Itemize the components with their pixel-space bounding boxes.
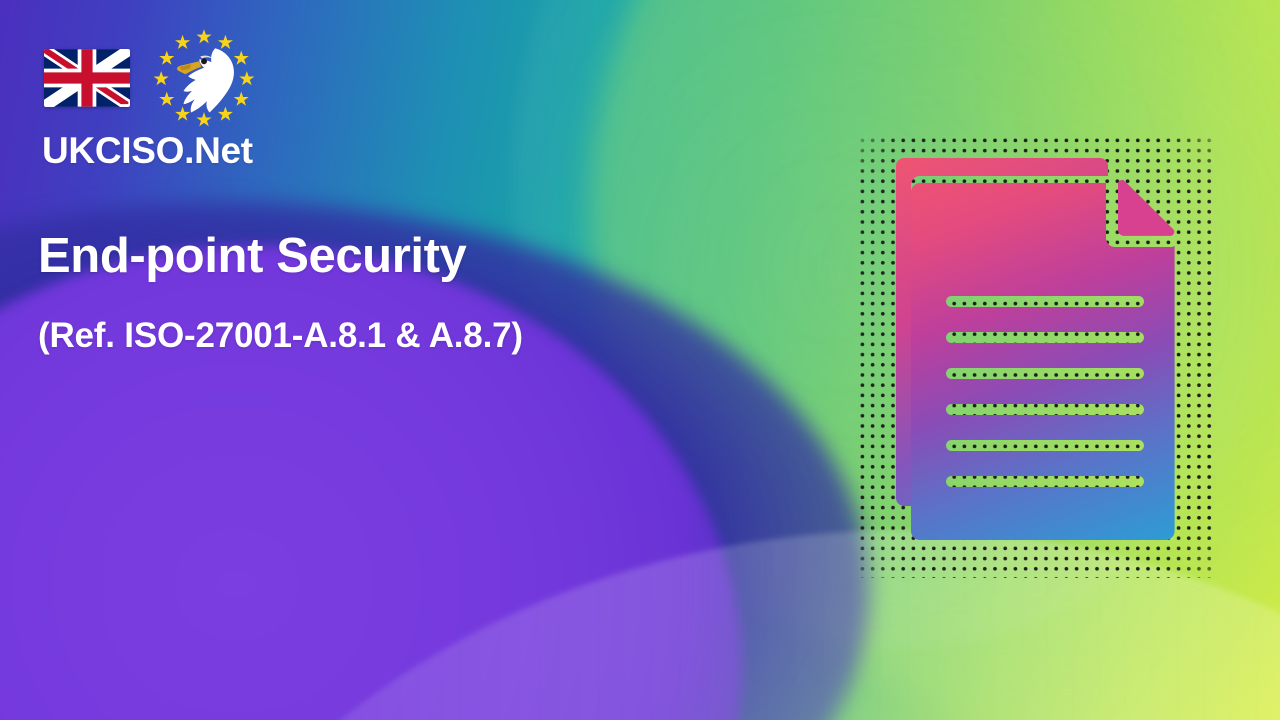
- uk-flag-icon: [44, 49, 130, 107]
- slide-canvas: UKCISO.Net End-point Security (Ref. ISO-…: [0, 0, 1280, 720]
- document-stack-icon: [850, 128, 1222, 588]
- page-subtitle: (Ref. ISO-27001-A.8.1 & A.8.7): [38, 316, 523, 356]
- brand-name: UKCISO.Net: [42, 130, 253, 172]
- page-title: End-point Security: [38, 228, 466, 284]
- document-front-page: [850, 128, 1222, 588]
- eagle-head-icon: [177, 48, 234, 112]
- eu-eagle-emblem-icon: [148, 24, 260, 132]
- logo-group: [44, 24, 260, 132]
